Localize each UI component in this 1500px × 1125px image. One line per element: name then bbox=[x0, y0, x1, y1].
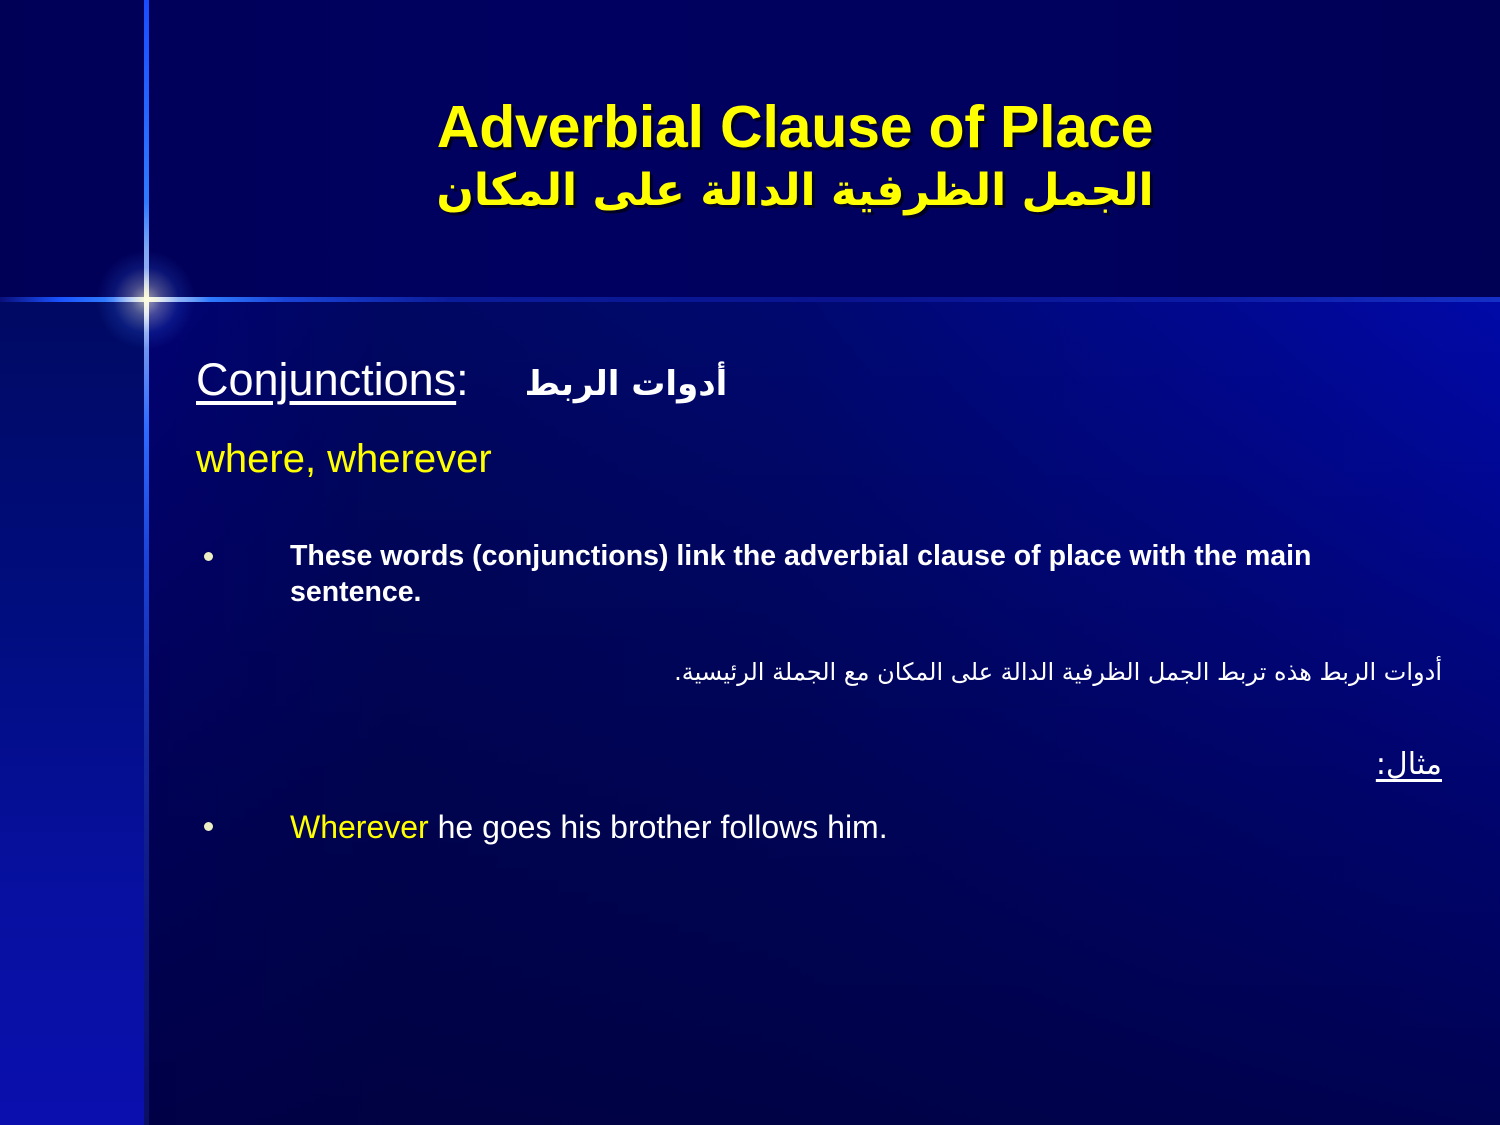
bullet-dot-icon bbox=[204, 552, 213, 561]
list-item: These words (conjunctions) link the adve… bbox=[204, 538, 1429, 611]
conjunctions-values: where, wherever bbox=[196, 437, 492, 482]
vertical-divider-line bbox=[144, 0, 149, 1125]
conjunctions-label-text: Conjunctions bbox=[196, 354, 456, 405]
slide-title-block: Adverbial Clause of Place الجمل الظرفية … bbox=[150, 96, 1440, 217]
example-label-arabic: مثال: bbox=[200, 745, 1442, 784]
page-title: Adverbial Clause of Place bbox=[150, 96, 1440, 160]
horizontal-divider-line bbox=[0, 297, 1500, 302]
example-sentence: Wherever he goes his brother follows him… bbox=[213, 808, 888, 846]
example-sentence-rest: he goes his brother follows him. bbox=[429, 809, 888, 845]
example-label-arabic-text: مثال: bbox=[1376, 747, 1442, 782]
background-lower-panel bbox=[0, 300, 1500, 1125]
list-item: Wherever he goes his brother follows him… bbox=[204, 808, 1429, 846]
slide-canvas: Adverbial Clause of Place الجمل الظرفية … bbox=[0, 0, 1500, 1125]
conjunctions-label: Conjunctions: bbox=[196, 355, 469, 405]
background-left-strip bbox=[0, 300, 146, 1125]
explanation-text-english: These words (conjunctions) link the adve… bbox=[213, 538, 1429, 611]
conjunctions-label-arabic: أدوات الربط bbox=[525, 364, 728, 404]
conjunctions-heading-row: Conjunctions: أدوات الربط bbox=[196, 355, 1446, 405]
page-title-arabic: الجمل الظرفية الدالة على المكان bbox=[150, 164, 1440, 218]
conjunctions-label-colon: : bbox=[456, 354, 469, 405]
bullet-dot-icon bbox=[204, 822, 213, 831]
example-sentence-highlight: Wherever bbox=[290, 809, 429, 845]
explanation-text-arabic: أدوات الربط هذه تربط الجمل الظرفية الدال… bbox=[200, 655, 1442, 690]
